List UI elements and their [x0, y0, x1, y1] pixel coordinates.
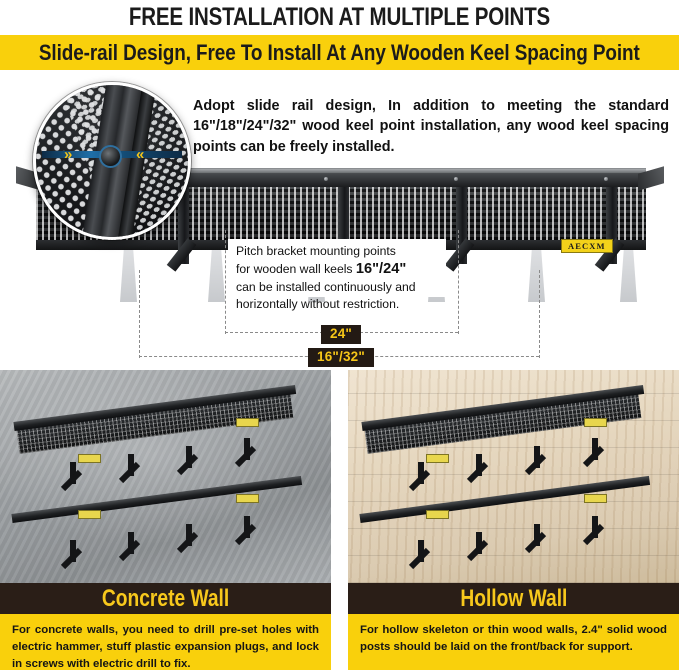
brand-badge — [426, 510, 449, 519]
dimension-tag-16-32: 16"/32" — [308, 348, 374, 367]
brand-badge — [78, 454, 101, 463]
panel-body-concrete: For concrete walls, you need to drill pr… — [0, 614, 331, 670]
arrow-right-icon: » — [64, 146, 69, 163]
shelf-bracket — [70, 540, 76, 562]
callout-line-3: can be installed continuously and — [236, 279, 440, 296]
wall-keel-post — [208, 250, 225, 302]
panel-concrete-wall: Concrete Wall For concrete walls, you ne… — [0, 370, 331, 670]
mounting-bolt-icon — [99, 145, 122, 168]
brand-badge — [584, 494, 607, 503]
product-diagram-section: Adopt slide rail design, In addition to … — [0, 70, 679, 370]
screw-icon — [454, 177, 458, 181]
shelf-bracket — [418, 462, 424, 484]
shelf-bracket — [592, 438, 598, 460]
panel-heading-concrete: Concrete Wall — [0, 583, 331, 614]
dimension-tick — [139, 270, 140, 358]
panel-heading-text: Concrete Wall — [102, 585, 229, 613]
callout-line-4: horizontally without restriction. — [236, 296, 440, 313]
shelf-bracket — [244, 438, 250, 460]
screw-icon — [604, 177, 608, 181]
arrow-left-icon: « — [136, 146, 141, 163]
shelf-bracket — [418, 540, 424, 562]
shelf-bracket — [476, 532, 482, 554]
callout-line-2-text: for wooden wall keels — [236, 262, 356, 276]
shelf-bracket — [128, 454, 134, 476]
wall-type-panels: Concrete Wall For concrete walls, you ne… — [0, 370, 679, 670]
page-title: FREE INSTALLATION AT MULTIPLE POINTS — [61, 0, 618, 35]
dimension-tag-24: 24" — [321, 325, 361, 344]
dimension-tick — [539, 270, 540, 358]
shelf-bracket — [534, 524, 540, 546]
hollow-wall-photo — [348, 370, 679, 583]
screw-icon — [324, 177, 328, 181]
description-paragraph: Adopt slide rail design, In addition to … — [193, 96, 669, 157]
shelf-bracket — [186, 524, 192, 546]
shelf-bracket — [476, 454, 482, 476]
shelf-bracket — [186, 446, 192, 468]
shelf-bracket — [534, 446, 540, 468]
dimension-tick — [458, 230, 459, 334]
brand-badge — [236, 494, 259, 503]
subtitle-text: Slide-rail Design, Free To Install At An… — [39, 40, 640, 66]
dimension-tick — [225, 230, 226, 334]
subtitle-band: Slide-rail Design, Free To Install At An… — [0, 35, 679, 70]
brand-badge — [426, 454, 449, 463]
brand-badge — [78, 510, 101, 519]
panel-heading-text: Hollow Wall — [460, 585, 567, 613]
infographic-page: FREE INSTALLATION AT MULTIPLE POINTS Sli… — [0, 0, 679, 670]
pitch-bracket-callout: Pitch bracket mounting points for wooden… — [228, 239, 446, 297]
shelf-bracket — [70, 462, 76, 484]
wall-keel-post — [620, 250, 637, 302]
shelf-bracket — [128, 532, 134, 554]
magnifier-detail-circle: » « — [33, 82, 191, 240]
brand-badge — [584, 418, 607, 427]
wall-keel-post — [528, 250, 545, 302]
wall-keel-post — [120, 250, 137, 302]
callout-line-2: for wooden wall keels 16"/24" — [236, 260, 440, 280]
shelf-bracket — [592, 516, 598, 538]
callout-keel-spacing: 16"/24" — [356, 261, 406, 277]
callout-line-1: Pitch bracket mounting points — [236, 243, 440, 260]
panel-body-hollow: For hollow skeleton or thin wood walls, … — [348, 614, 679, 670]
brand-badge: AECXM — [561, 239, 613, 253]
panel-heading-hollow: Hollow Wall — [348, 583, 679, 614]
concrete-wall-photo — [0, 370, 331, 583]
panel-hollow-wall: Hollow Wall For hollow skeleton or thin … — [348, 370, 679, 670]
shelf-bracket — [244, 516, 250, 538]
brand-badge — [236, 418, 259, 427]
